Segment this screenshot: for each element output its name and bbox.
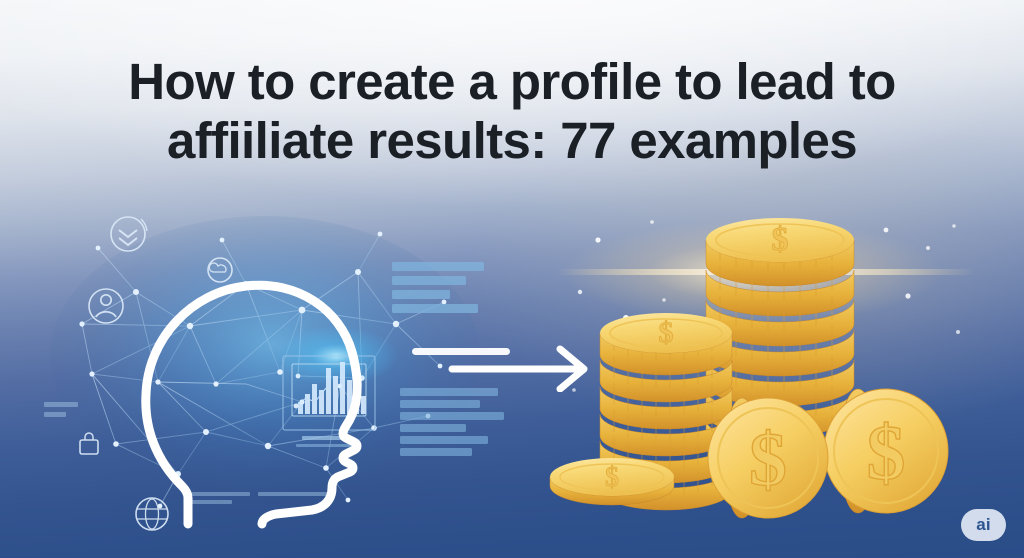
page-title-line-1: How to create a profile to lead to xyxy=(128,53,895,110)
upright-coin-front: $ xyxy=(708,398,828,518)
dollar-sign: $ xyxy=(772,221,789,258)
dollar-sign: $ xyxy=(605,462,619,493)
gold-coin-stacks: $ xyxy=(556,200,976,530)
page-title: How to create a profile to lead to affii… xyxy=(0,52,1024,170)
banner-canvas: How to create a profile to lead to affii… xyxy=(0,0,1024,558)
page-title-line-2: affiiliate results: 77 examples xyxy=(46,111,978,170)
flat-coin: $ xyxy=(550,458,674,505)
upright-coin-back: $ xyxy=(824,389,948,513)
dollar-sign: $ xyxy=(659,316,674,349)
ai-logo-badge[interactable]: ai xyxy=(961,509,1006,541)
globe-icon xyxy=(136,498,168,530)
dollar-sign: $ xyxy=(867,409,906,496)
ai-head-network-illustration xyxy=(40,206,510,524)
dollar-sign: $ xyxy=(749,418,787,502)
